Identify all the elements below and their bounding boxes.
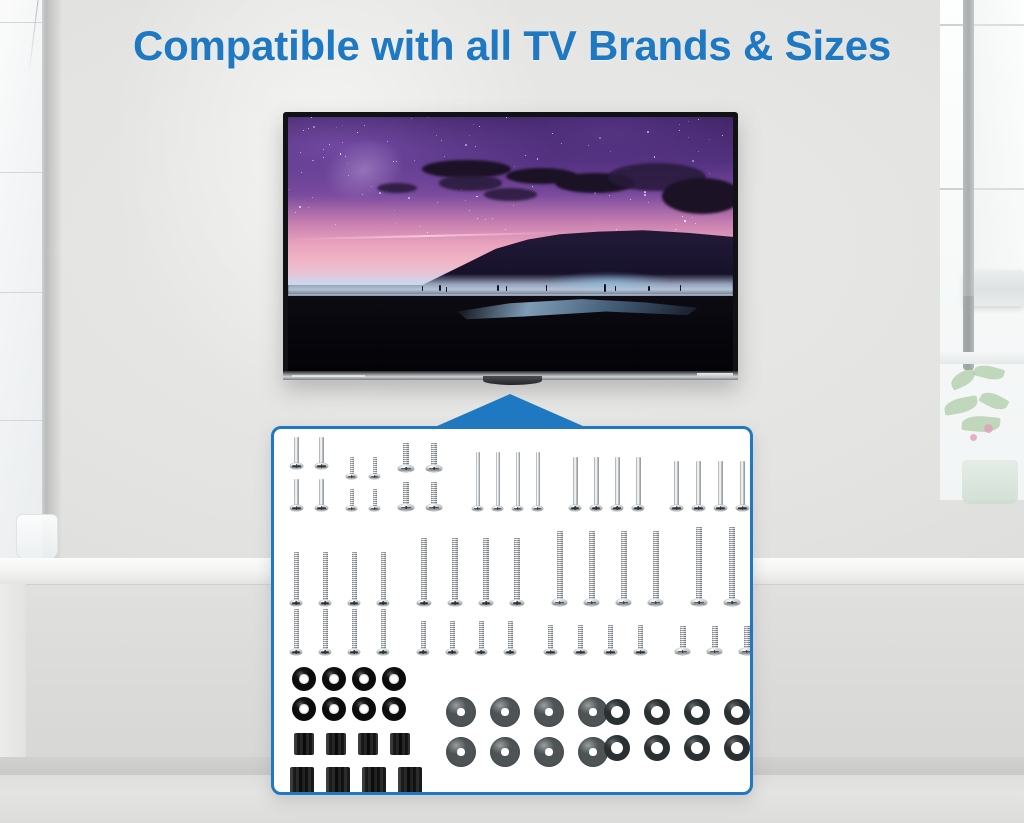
- metal-flat-washers-item: [490, 737, 520, 767]
- rubber-o-ring-washers: [292, 667, 406, 721]
- screw: [584, 531, 599, 606]
- screw-shank: [431, 443, 437, 465]
- screw: [544, 625, 557, 655]
- screw: [398, 482, 414, 511]
- row-3-medium-threaded-screws: [290, 609, 753, 655]
- tv-bezel-highlight-left: [292, 375, 365, 377]
- screw-head-phillips: [714, 505, 727, 511]
- screw: [472, 452, 483, 511]
- metal-ring-washers-item: [644, 735, 670, 761]
- group-m6-threaded-long: [552, 531, 663, 606]
- screw-head-phillips: [590, 505, 602, 511]
- hardware-panel: [271, 426, 753, 795]
- screw-head-phillips: [510, 600, 524, 606]
- group-m5-long-smooth: [569, 457, 644, 511]
- screw-shank: [421, 621, 426, 649]
- screw-shank: [696, 461, 701, 505]
- screw-head-phillips: [290, 649, 302, 655]
- screw: [348, 609, 360, 655]
- screw-shank: [621, 531, 627, 599]
- metal-flat-washers: [446, 697, 608, 767]
- screw-head-phillips: [398, 465, 414, 472]
- product-marketing-image: Compatible with all TV Brands & Sizes: [0, 0, 1024, 823]
- screw-head-phillips: [319, 649, 331, 655]
- screw: [369, 457, 380, 479]
- screw-shank: [403, 443, 409, 465]
- screw-head-phillips: [417, 600, 431, 606]
- right-window: [940, 0, 1024, 500]
- metal-flat-washers-item: [446, 697, 476, 727]
- screw: [426, 443, 442, 472]
- group-m5-threaded-short: [417, 621, 516, 655]
- screw-head-phillips: [448, 600, 462, 606]
- screw: [675, 626, 690, 655]
- screw-shank: [431, 482, 437, 504]
- screw: [290, 479, 303, 511]
- screw: [377, 609, 389, 655]
- screw: [604, 625, 617, 655]
- screw: [426, 482, 442, 511]
- screw-shank: [319, 479, 324, 505]
- screw: [739, 626, 753, 655]
- screw: [475, 621, 487, 655]
- screw: [616, 531, 631, 606]
- screw-shank: [696, 527, 702, 599]
- tv-bezel-center-bulge: [483, 376, 542, 385]
- screw: [504, 621, 516, 655]
- rubber-o-ring-washers-item: [352, 697, 376, 721]
- group-m4-mini-pan: [346, 457, 380, 511]
- screw-shank: [508, 621, 513, 649]
- metal-flat-washers-item: [534, 737, 564, 767]
- screw-shank: [350, 489, 354, 506]
- screw-head-phillips: [675, 648, 690, 655]
- screw-shank: [452, 538, 458, 600]
- screw-shank: [496, 452, 500, 506]
- screw-shank: [638, 625, 643, 649]
- rubber-o-ring-washers-item: [382, 697, 406, 721]
- screw-shank: [653, 531, 659, 599]
- plastic-spacers-short-item: [358, 733, 378, 755]
- screw-shank: [557, 531, 563, 599]
- screw-head-phillips: [552, 599, 567, 606]
- screw-shank: [350, 457, 354, 474]
- rubber-o-ring-washers-item: [322, 697, 346, 721]
- screw: [512, 452, 523, 511]
- screw: [369, 489, 380, 511]
- screw-head-phillips: [634, 649, 647, 655]
- group-m8-threaded-long: [691, 527, 753, 606]
- left-shelving-unit: [0, 0, 62, 585]
- hardware-panel-contents: [274, 429, 750, 792]
- left-glass-panels: [0, 0, 46, 585]
- screw-head-phillips: [369, 506, 380, 511]
- wall-mounted-tv: [283, 112, 738, 380]
- screw: [377, 552, 389, 606]
- screw-shank: [514, 538, 520, 600]
- screw-head-phillips: [616, 599, 631, 606]
- screw: [417, 621, 429, 655]
- screw-shank: [589, 531, 595, 599]
- screw-head-phillips: [426, 465, 442, 472]
- mist-glow: [519, 269, 697, 294]
- metal-flat-washers-item: [534, 697, 564, 727]
- screw: [398, 443, 414, 472]
- rubber-o-ring-washers-item: [292, 697, 316, 721]
- screw: [510, 538, 524, 606]
- screw-shank: [573, 457, 578, 505]
- screw: [448, 538, 462, 606]
- screw-head-phillips: [584, 599, 599, 606]
- screw-shank: [615, 457, 620, 505]
- screw-head-phillips: [475, 649, 487, 655]
- screw-shank: [479, 621, 484, 649]
- screw-shank: [381, 552, 386, 600]
- screw-shank: [718, 461, 723, 505]
- screw-head-phillips: [724, 599, 740, 606]
- metal-ring-washers-item: [724, 735, 750, 761]
- screw-head-phillips: [574, 649, 587, 655]
- screw-head-phillips: [290, 463, 303, 469]
- screw: [648, 531, 663, 606]
- window-sill: [940, 352, 1024, 364]
- group-m4-threaded-medium: [290, 552, 389, 606]
- screw-head-phillips: [348, 649, 360, 655]
- screw-head-phillips: [369, 474, 380, 479]
- screw-shank: [608, 625, 613, 649]
- plastic-spacers-short: [294, 733, 410, 755]
- screw-head-phillips: [398, 504, 414, 511]
- screw-shank: [450, 621, 455, 649]
- screw-head-phillips: [648, 599, 663, 606]
- tv-bezel: [283, 112, 738, 380]
- screw-shank: [680, 626, 686, 648]
- screw-shank: [729, 527, 735, 599]
- screw-head-phillips: [691, 599, 707, 606]
- screw: [691, 527, 707, 606]
- screw-shank: [594, 457, 599, 505]
- screw: [632, 457, 644, 511]
- screw-head-phillips: [346, 506, 357, 511]
- screw-head-phillips: [377, 600, 389, 606]
- left-frame-post: [42, 0, 51, 585]
- screw: [532, 452, 543, 511]
- screw: [290, 609, 302, 655]
- screw: [290, 552, 302, 606]
- plastic-spacers-tall-item: [326, 767, 350, 795]
- screw-head-phillips: [611, 505, 623, 511]
- screw: [348, 552, 360, 606]
- screw-shank: [578, 625, 583, 649]
- screw-shank: [323, 609, 328, 649]
- screw: [492, 452, 503, 511]
- screw-shank: [373, 457, 377, 474]
- screw: [417, 538, 431, 606]
- screw-head-phillips: [532, 506, 543, 511]
- screw-head-phillips: [417, 649, 429, 655]
- screw: [724, 527, 740, 606]
- screw-shank: [536, 452, 540, 506]
- screw-shank: [744, 626, 750, 648]
- screw-head-phillips: [632, 505, 644, 511]
- row-2-long-threaded-screws: [290, 527, 753, 606]
- screw: [346, 457, 357, 479]
- screw: [634, 625, 647, 655]
- screw-head-phillips: [479, 600, 493, 606]
- screw-head-phillips: [348, 600, 360, 606]
- screw-head-phillips: [492, 506, 503, 511]
- metal-ring-washers: [604, 699, 750, 761]
- screw-head-phillips: [319, 600, 331, 606]
- screw-head-phillips: [692, 505, 705, 511]
- screw: [590, 457, 602, 511]
- group-m5-threaded-long: [417, 538, 524, 606]
- screw: [319, 609, 331, 655]
- screw: [315, 479, 328, 511]
- rubber-o-ring-washers-item: [322, 667, 346, 691]
- row-1-short-screws: [290, 437, 753, 511]
- screw-head-phillips: [512, 506, 523, 511]
- screw: [552, 531, 567, 606]
- metal-ring-washers-item: [724, 699, 750, 725]
- screw-head-phillips: [290, 600, 302, 606]
- screw-head-phillips: [569, 505, 581, 511]
- group-m6-threaded-short: [544, 625, 647, 655]
- metal-flat-washers-item: [490, 697, 520, 727]
- screw-head-phillips: [315, 463, 328, 469]
- rubber-o-ring-washers-item: [382, 667, 406, 691]
- screw: [574, 625, 587, 655]
- screw-head-phillips: [377, 649, 389, 655]
- group-m4-long-smooth: [472, 452, 543, 511]
- metal-ring-washers-item: [684, 699, 710, 725]
- screw-shank: [319, 437, 324, 463]
- metal-flat-washers-item: [446, 737, 476, 767]
- rubber-o-ring-washers-item: [352, 667, 376, 691]
- page-title: Compatible with all TV Brands & Sizes: [0, 22, 1024, 70]
- screw-head-phillips: [446, 649, 458, 655]
- plastic-spacers-short-item: [390, 733, 410, 755]
- screw: [714, 461, 727, 511]
- screw-shank: [548, 625, 553, 649]
- group-m6-short-pan: [398, 443, 442, 511]
- screw-shank: [381, 609, 386, 649]
- metal-ring-washers-item: [684, 735, 710, 761]
- screw-shank: [674, 461, 679, 505]
- screw: [736, 461, 749, 511]
- screw-shank: [516, 452, 520, 506]
- decor-vase: [16, 514, 58, 560]
- screw-head-phillips: [315, 505, 328, 511]
- plastic-spacers-tall-item: [398, 767, 422, 795]
- tv-bezel-highlight-right: [697, 373, 733, 378]
- screw: [319, 552, 331, 606]
- screw-shank: [712, 626, 718, 648]
- group-m4-short-pan: [290, 437, 328, 511]
- screw-shank: [294, 552, 299, 600]
- screw-head-phillips: [544, 649, 557, 655]
- screw: [446, 621, 458, 655]
- metal-ring-washers-item: [604, 699, 630, 725]
- screw-shank: [476, 452, 480, 506]
- screw-shank: [373, 489, 377, 506]
- screw-shank: [740, 461, 745, 505]
- screw: [315, 437, 328, 469]
- plastic-spacers-tall: [290, 767, 422, 795]
- rubber-o-ring-washers-item: [292, 667, 316, 691]
- screw-shank: [403, 482, 409, 504]
- group-m8-threaded-short: [675, 626, 753, 655]
- screw-head-phillips: [290, 505, 303, 511]
- plant-pot: [962, 460, 1018, 504]
- screw-shank: [294, 479, 299, 505]
- metal-ring-washers-item: [644, 699, 670, 725]
- screw: [479, 538, 493, 606]
- screw-head-phillips: [707, 648, 722, 655]
- credenza-left-end: [0, 584, 26, 762]
- screw-shank: [323, 552, 328, 600]
- screw: [346, 489, 357, 511]
- plastic-spacers-tall-item: [362, 767, 386, 795]
- metal-ring-washers-item: [604, 735, 630, 761]
- left-post-shadow: [51, 0, 62, 585]
- tv-screen: [288, 117, 733, 371]
- group-m6-long-smooth: [670, 461, 749, 511]
- screw-shank: [352, 552, 357, 600]
- screw-shank: [636, 457, 641, 505]
- screw-head-phillips: [739, 648, 753, 655]
- screw-head-phillips: [472, 506, 483, 511]
- screw: [611, 457, 623, 511]
- screw: [569, 457, 581, 511]
- screw: [692, 461, 705, 511]
- screw-head-phillips: [346, 474, 357, 479]
- screw-head-phillips: [736, 505, 749, 511]
- plastic-spacers-tall-item: [290, 767, 314, 795]
- screw-head-phillips: [604, 649, 617, 655]
- screw-head-phillips: [426, 504, 442, 511]
- screw-shank: [294, 609, 299, 649]
- plastic-spacers-short-item: [294, 733, 314, 755]
- screw-shank: [294, 437, 299, 463]
- plastic-spacers-short-item: [326, 733, 346, 755]
- screw: [707, 626, 722, 655]
- group-m4-threaded-med: [290, 609, 389, 655]
- screw-head-phillips: [670, 505, 683, 511]
- screw: [670, 461, 683, 511]
- window-plant: [940, 364, 1024, 504]
- screw-shank: [352, 609, 357, 649]
- screw-shank: [421, 538, 427, 600]
- screw-shank: [483, 538, 489, 600]
- screw: [290, 437, 303, 469]
- screw-head-phillips: [504, 649, 516, 655]
